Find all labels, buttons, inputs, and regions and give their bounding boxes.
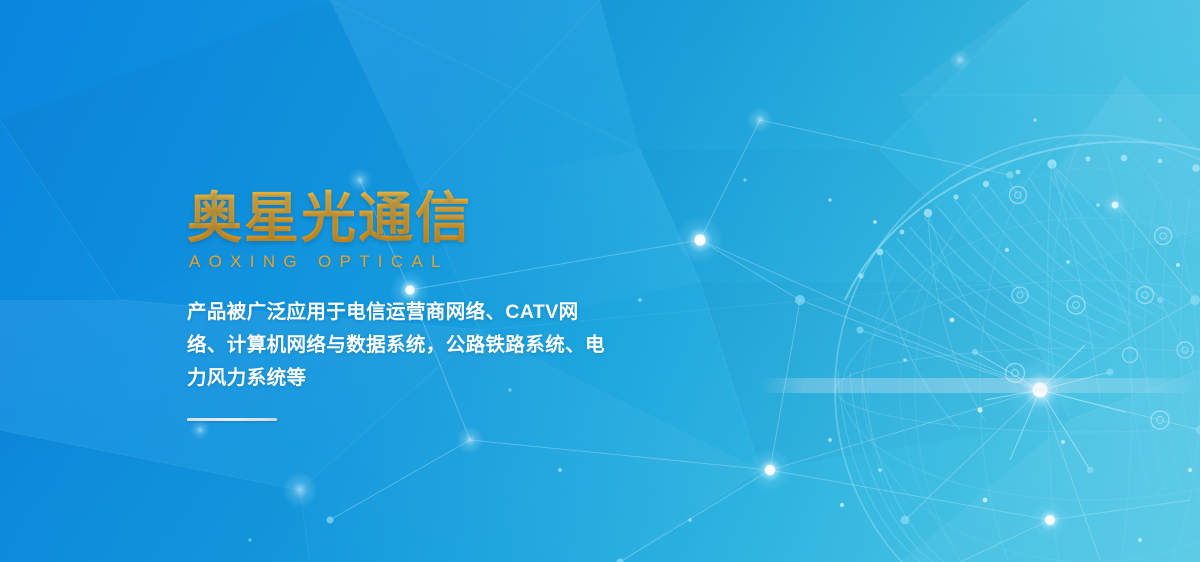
page-subtitle: AOXING OPTICAL	[189, 252, 657, 272]
divider	[187, 418, 277, 421]
hero-banner: 奥星光通信 AOXING OPTICAL 产品被广泛应用于电信运营商网络、CAT…	[0, 0, 1200, 562]
page-description: 产品被广泛应用于电信运营商网络、CATV网络、计算机网络与数据系统，公路铁路系统…	[187, 296, 605, 395]
hero-text-block: 奥星光通信 AOXING OPTICAL 产品被广泛应用于电信运营商网络、CAT…	[187, 188, 657, 421]
page-title: 奥星光通信	[187, 188, 657, 248]
